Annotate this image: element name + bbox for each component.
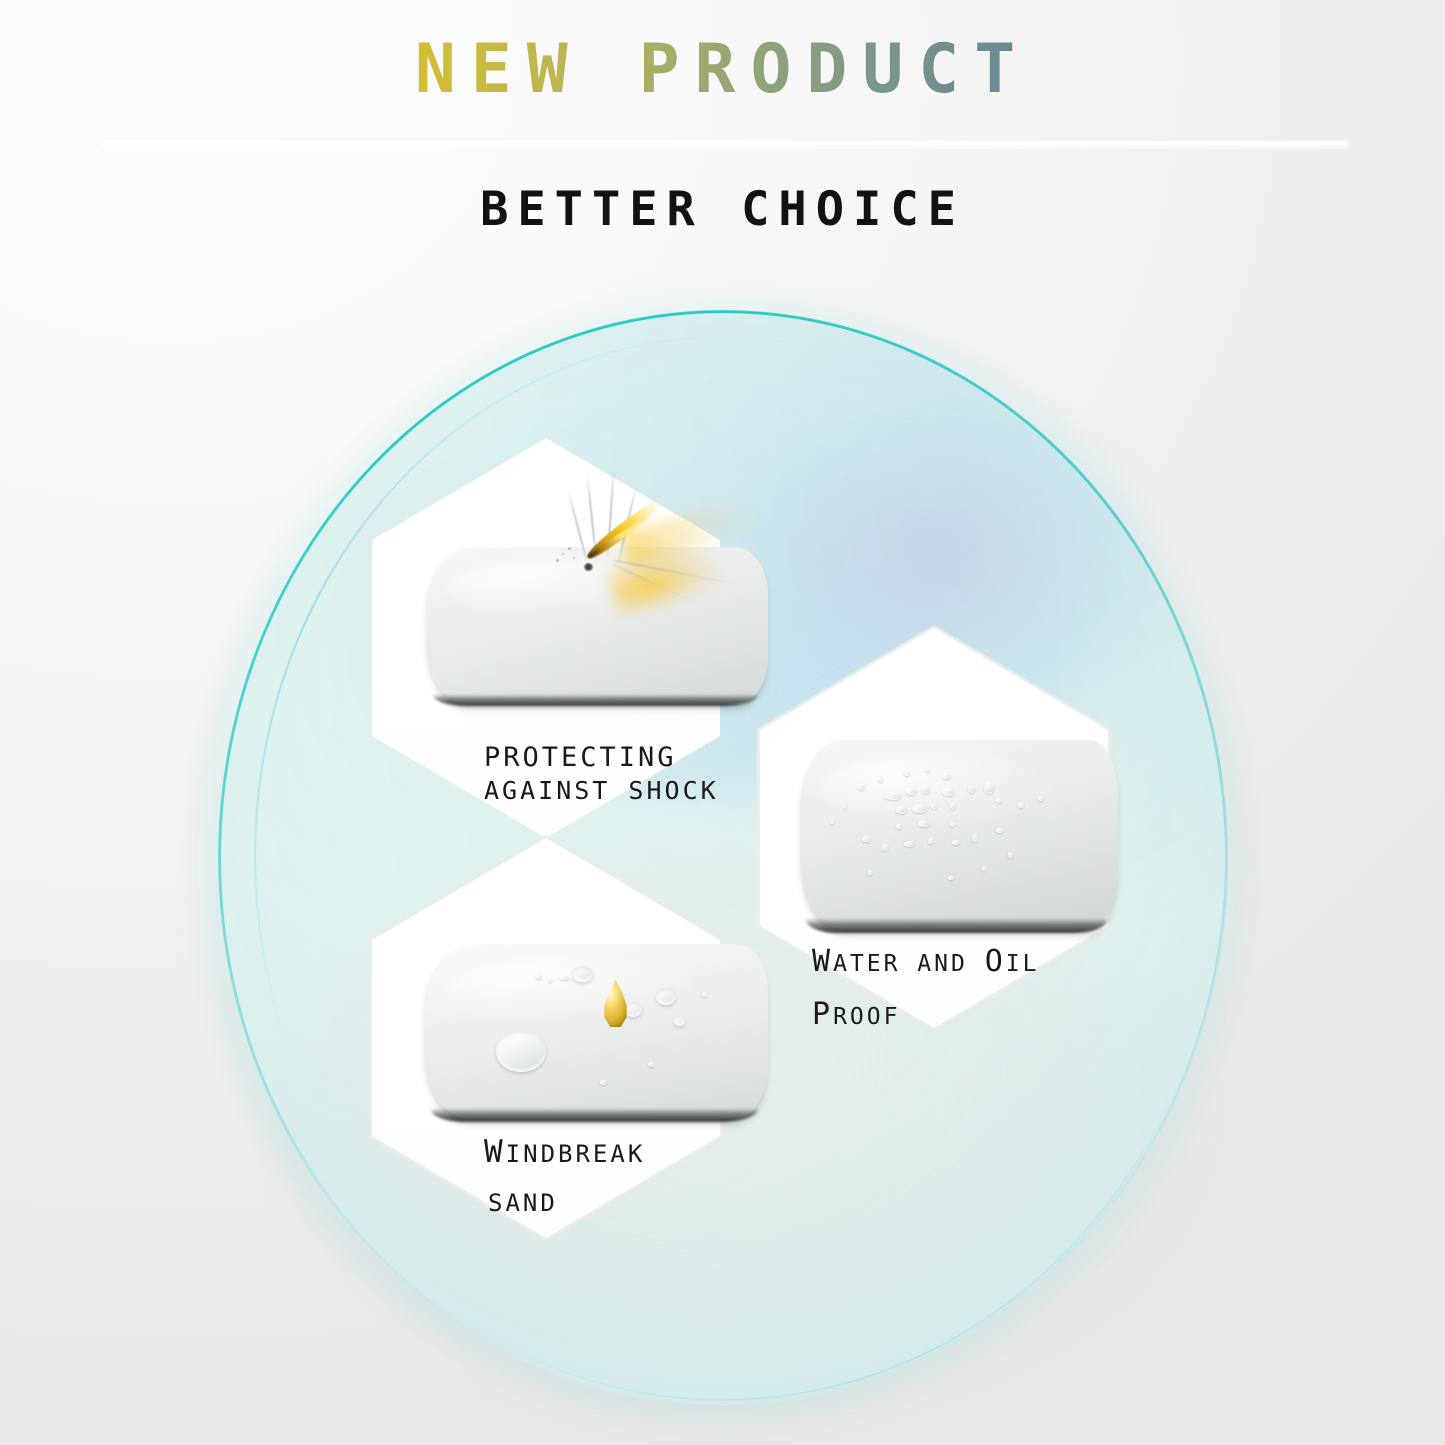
water-bead	[931, 803, 938, 809]
feature-caption-protecting-against-shock: PROTECTING AGAINST SHOCK	[484, 740, 719, 808]
caption-line-1: WATER AND OIL	[812, 942, 1039, 981]
feature-caption-windbreak-sand: WINDBREAK SAND	[484, 1132, 645, 1220]
water-bead	[536, 974, 542, 979]
water-bead	[1038, 796, 1043, 801]
water-bead	[950, 822, 955, 827]
water-bead	[972, 834, 978, 842]
water-bead	[950, 802, 956, 809]
water-bead	[912, 804, 928, 813]
caption-initial: W	[484, 1134, 506, 1170]
water-bead	[830, 820, 834, 824]
water-bead	[878, 777, 883, 782]
water-bead	[942, 788, 955, 796]
water-bead	[982, 866, 986, 871]
water-bead	[882, 844, 888, 851]
lens-photo-spark-impact	[426, 547, 768, 704]
caption-line-2: SAND	[488, 1188, 645, 1220]
caption-smallcaps: IL	[1006, 951, 1040, 977]
water-bead	[922, 784, 930, 794]
caption-line-2: AGAINST SHOCK	[484, 775, 719, 808]
water-bead	[548, 978, 552, 982]
water-bead	[648, 1062, 654, 1067]
water-bead	[996, 798, 1002, 803]
water-bead	[896, 824, 902, 829]
water-bead	[656, 988, 676, 1005]
water-bead	[984, 782, 994, 794]
water-bead	[948, 876, 954, 880]
water-bead	[1018, 802, 1024, 808]
header-divider	[100, 140, 1348, 147]
lens-bottom-edge	[431, 1108, 758, 1122]
water-bead	[842, 804, 847, 809]
water-bead	[702, 992, 707, 997]
caption-smallcaps: INDBREAK	[506, 1140, 646, 1168]
water-bead	[560, 976, 569, 980]
lens-bottom-edge	[806, 918, 1108, 933]
caption-line-1: PROTECTING	[484, 740, 719, 775]
caption-smallcaps: AND	[505, 1189, 557, 1217]
caption-line-1: WINDBREAK	[484, 1132, 645, 1172]
water-bead	[1008, 852, 1013, 858]
feature-caption-water-and-oil-proof: WATER AND OIL PROOF	[812, 942, 1039, 1034]
lens-photo-water-beads	[800, 740, 1118, 930]
lens-bottom-edge	[433, 694, 758, 707]
lens-photo-water-and-oil-drop	[424, 944, 768, 1119]
water-bead	[674, 1016, 685, 1026]
water-bead	[896, 806, 907, 814]
water-bead	[996, 828, 1003, 833]
lens-gloss-highlight	[819, 751, 1054, 827]
water-bead	[600, 1080, 607, 1085]
water-bead	[885, 792, 902, 800]
water-bead	[906, 788, 917, 795]
water-bead	[952, 840, 960, 845]
caption-initial: O	[985, 944, 1006, 979]
caption-line-2: PROOF	[812, 995, 1039, 1034]
water-bead	[904, 841, 915, 847]
water-bead	[942, 773, 951, 779]
large-water-bead	[496, 1030, 546, 1072]
caption-initial: S	[488, 1189, 505, 1217]
page-title: NEW PRODUCT	[0, 36, 1445, 104]
header-block: NEW PRODUCT BETTER CHOICE	[0, 0, 1445, 270]
caption-smallcaps: ROOF	[833, 1004, 900, 1030]
oil-droplet-highlight	[606, 990, 615, 1004]
caption-initial: W	[812, 944, 833, 979]
lens-gloss-highlight	[447, 556, 700, 619]
water-bead	[862, 836, 871, 842]
water-bead	[968, 785, 975, 793]
page-subtitle: BETTER CHOICE	[0, 182, 1445, 237]
caption-smallcaps: ATER AND	[833, 951, 985, 977]
water-bead	[926, 768, 930, 772]
water-bead	[928, 838, 933, 844]
caption-initial: P	[812, 997, 833, 1032]
water-bead	[904, 771, 910, 776]
water-bead	[868, 870, 873, 875]
water-bead	[918, 820, 930, 827]
water-bead	[624, 1002, 642, 1017]
water-bead	[858, 784, 865, 790]
water-bead	[572, 966, 593, 982]
